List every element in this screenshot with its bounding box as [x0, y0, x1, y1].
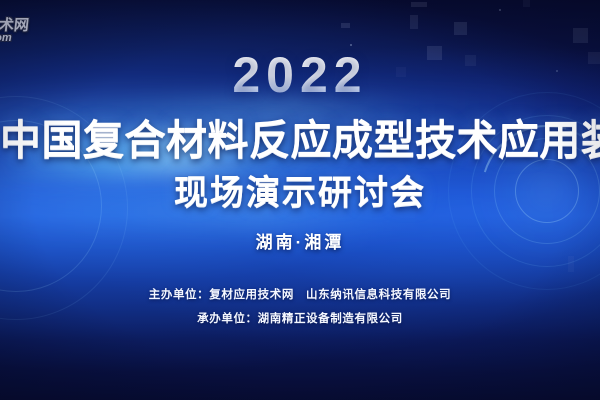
organizer-organization-line: 承办单位：湖南精正设备制造有限公司 [0, 314, 600, 326]
host-organization-line: 主办单位：复材应用技术网 山东纳讯信息科技有限公司 [0, 290, 600, 302]
event-year: 2022 [0, 50, 600, 100]
event-title-main: 中国复合材料反应成型技术应用装备 [0, 120, 600, 161]
event-location: 湖南·湘潭 [0, 234, 600, 251]
event-poster: 技术网 .com 2022 中国复合材料反应成型技术应用装备 现场演示研讨会 湖… [0, 0, 600, 400]
event-title-sub: 现场演示研讨会 [0, 176, 600, 210]
poster-content: 2022 中国复合材料反应成型技术应用装备 现场演示研讨会 湖南·湘潭 主办单位… [0, 0, 600, 400]
